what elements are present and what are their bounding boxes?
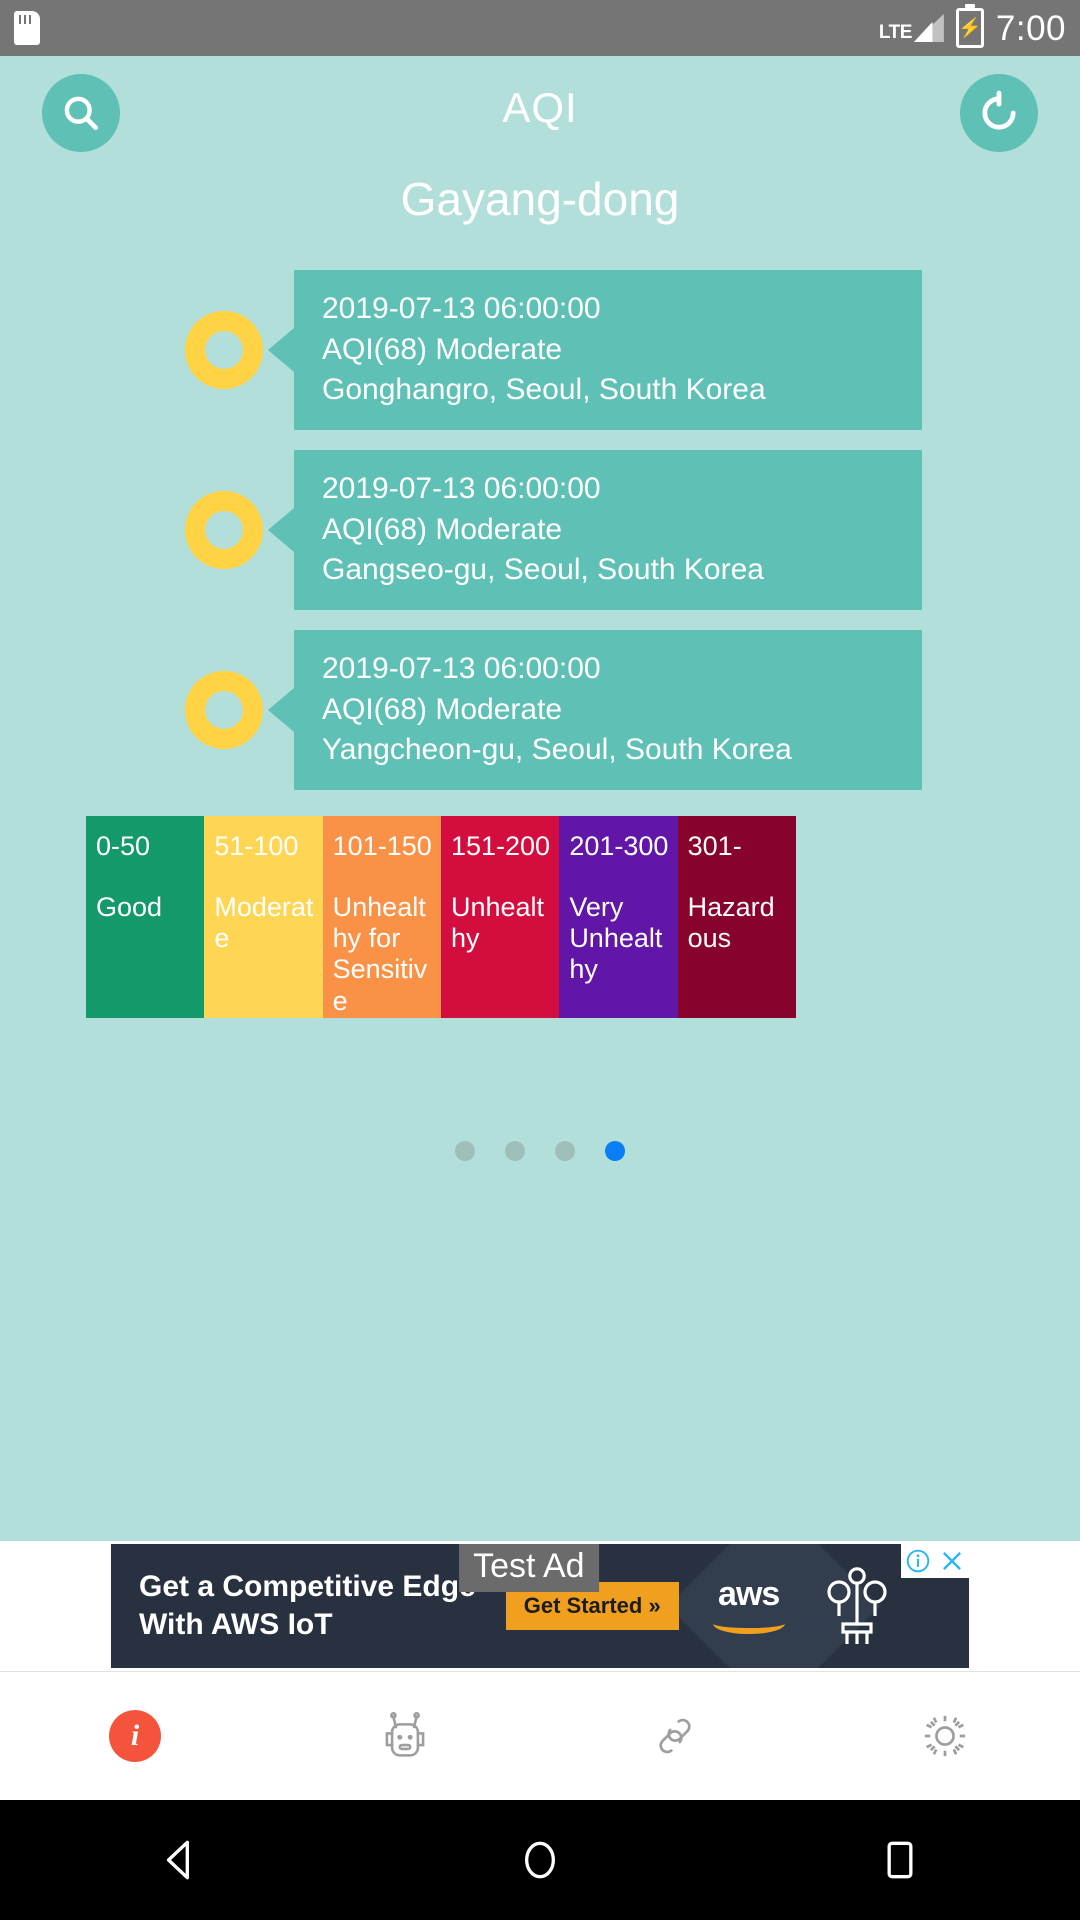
legend-range: 101-150 [333, 832, 433, 862]
aws-logo: aws [713, 1578, 785, 1634]
nav-item-settings[interactable] [810, 1705, 1080, 1767]
ad-controls [901, 1544, 969, 1578]
app-content: AQI Gayang-dong 2019-07-13 06:00:00 AQI(… [0, 56, 1080, 1671]
ad-test-label: Test Ad [459, 1544, 599, 1592]
android-recents-button[interactable] [720, 1835, 1080, 1885]
ad-container: Get a Competitive Edge With AWS IoT Get … [0, 1541, 1080, 1671]
android-navigation-bar [0, 1800, 1080, 1920]
status-bar: LTE ⚡ 7:00 [0, 0, 1080, 56]
aqi-legend: 0-50 Good 51-100 Moderate 101-150 Unheal… [86, 816, 796, 1018]
page-indicator [0, 1141, 1080, 1161]
page-dot[interactable] [555, 1141, 575, 1161]
legend-label: Moderate [214, 892, 314, 955]
aqi-ring-marker-icon [185, 311, 263, 389]
network-label: LTE [879, 23, 912, 42]
page-title: AQI [0, 84, 1080, 132]
signal-bars-icon: LTE [879, 14, 944, 42]
legend-label: Hazardous [688, 892, 788, 955]
android-home-button[interactable] [360, 1835, 720, 1885]
nav-item-link[interactable] [540, 1707, 810, 1765]
nav-item-robot[interactable] [270, 1705, 540, 1767]
page-dot[interactable] [505, 1141, 525, 1161]
legend-label: Very Unhealthy [569, 892, 669, 986]
aqi-card-value: AQI(68) Moderate [322, 510, 922, 551]
aqi-card-bubble[interactable]: 2019-07-13 06:00:00 AQI(68) Moderate Gon… [294, 270, 922, 430]
back-triangle-icon [155, 1835, 205, 1885]
ad-info-icon[interactable] [901, 1544, 935, 1578]
ad-headline-line1: Get a Competitive Edge [139, 1568, 476, 1606]
ad-banner[interactable]: Get a Competitive Edge With AWS IoT Get … [111, 1544, 969, 1668]
legend-segment-very-unhealthy: 201-300 Very Unhealthy [559, 816, 677, 1018]
recents-square-icon [875, 1835, 925, 1885]
status-bar-left [14, 11, 40, 45]
legend-segment-moderate: 51-100 Moderate [204, 816, 322, 1018]
ad-headline: Get a Competitive Edge With AWS IoT [139, 1568, 476, 1645]
status-bar-right: LTE ⚡ 7:00 [879, 8, 1066, 48]
info-icon: i [109, 1710, 161, 1762]
page-dot[interactable] [455, 1141, 475, 1161]
legend-segment-unhealthy: 151-200 Unhealthy [441, 816, 559, 1018]
app-screen: LTE ⚡ 7:00 AQI [0, 0, 1080, 1920]
iot-circuit-icon [809, 1556, 905, 1657]
aqi-card-timestamp: 2019-07-13 06:00:00 [322, 289, 922, 330]
aqi-card-bubble[interactable]: 2019-07-13 06:00:00 AQI(68) Moderate Yan… [294, 630, 922, 790]
page-dot-active[interactable] [605, 1141, 625, 1161]
aqi-card-list: 2019-07-13 06:00:00 AQI(68) Moderate Gon… [0, 270, 1080, 810]
refresh-button[interactable] [960, 74, 1038, 152]
legend-range: 301- [688, 832, 788, 862]
aqi-card-location: Gonghangro, Seoul, South Korea [322, 370, 922, 411]
app-header: AQI [0, 56, 1080, 186]
aqi-card-location: Gangseo-gu, Seoul, South Korea [322, 550, 922, 591]
ad-headline-line2: With AWS IoT [139, 1606, 476, 1644]
legend-range: 51-100 [214, 832, 314, 862]
android-back-button[interactable] [0, 1835, 360, 1885]
legend-label: Good [96, 892, 196, 923]
aqi-card-timestamp: 2019-07-13 06:00:00 [322, 649, 922, 690]
robot-icon [374, 1705, 436, 1767]
signal-triangle-icon [914, 14, 944, 42]
legend-segment-hazardous: 301- Hazardous [678, 816, 796, 1018]
legend-segment-unhealthy-sensitive: 101-150 Unhealthy for Sensitive Groups [323, 816, 441, 1018]
legend-range: 0-50 [96, 832, 196, 862]
aqi-card[interactable]: 2019-07-13 06:00:00 AQI(68) Moderate Yan… [0, 630, 1080, 790]
aws-smile-icon [713, 1612, 785, 1634]
aqi-card[interactable]: 2019-07-13 06:00:00 AQI(68) Moderate Gan… [0, 450, 1080, 610]
aqi-card-value: AQI(68) Moderate [322, 690, 922, 731]
legend-label: Unhealthy for Sensitive Groups [333, 892, 433, 1018]
aqi-card-bubble[interactable]: 2019-07-13 06:00:00 AQI(68) Moderate Gan… [294, 450, 922, 610]
aqi-card-location: Yangcheon-gu, Seoul, South Korea [322, 730, 922, 771]
aqi-card-timestamp: 2019-07-13 06:00:00 [322, 469, 922, 510]
battery-charging-icon: ⚡ [956, 8, 984, 48]
legend-range: 151-200 [451, 832, 551, 862]
status-bar-clock: 7:00 [996, 11, 1066, 46]
legend-segment-good: 0-50 Good [86, 816, 204, 1018]
refresh-icon [976, 90, 1022, 136]
aqi-ring-marker-icon [185, 671, 263, 749]
aqi-card[interactable]: 2019-07-13 06:00:00 AQI(68) Moderate Gon… [0, 270, 1080, 430]
home-circle-icon [515, 1835, 565, 1885]
bottom-navigation: i [0, 1671, 1080, 1800]
legend-range: 201-300 [569, 832, 669, 862]
aws-wordmark: aws [713, 1578, 785, 1610]
link-icon [646, 1707, 704, 1765]
sdcard-icon [14, 11, 40, 45]
aqi-card-value: AQI(68) Moderate [322, 330, 922, 371]
aqi-ring-marker-icon [185, 491, 263, 569]
ad-close-icon[interactable] [935, 1544, 969, 1578]
settings-gear-icon [914, 1705, 976, 1767]
legend-label: Unhealthy [451, 892, 551, 955]
nav-item-info[interactable]: i [0, 1710, 270, 1762]
